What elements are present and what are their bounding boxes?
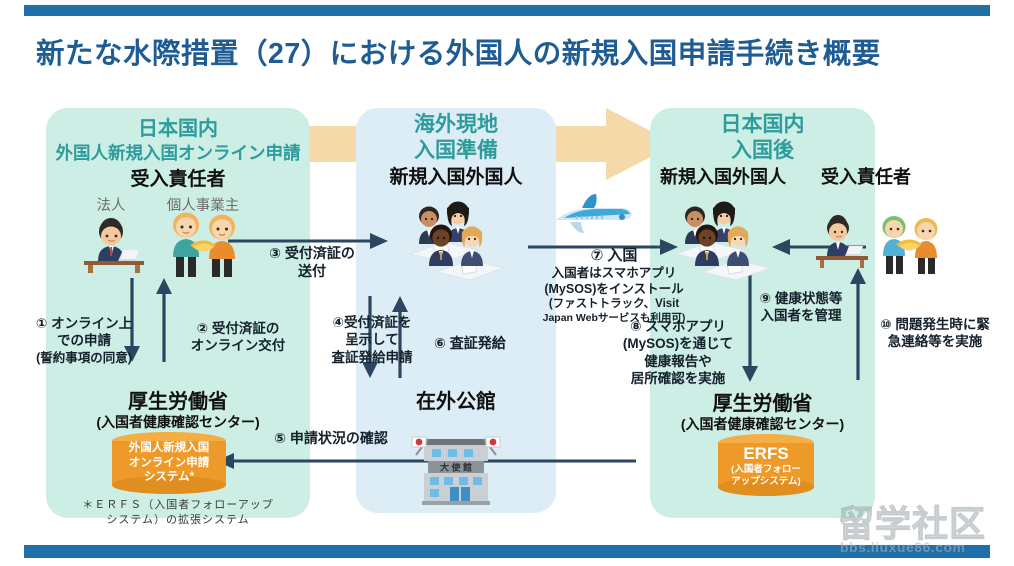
step-4-line-2: 呈示して xyxy=(312,331,432,348)
step-1-line-2: での申請 xyxy=(14,332,154,349)
step-8-label: ⑧ スマホアプリ (MySOS)を通じて 健康報告や 居所確認を実施 xyxy=(608,318,748,387)
step-10-line-2: 急連絡等を実施 xyxy=(860,333,1010,350)
right-panel-role-title-foreigners: 新規入国外国人 xyxy=(648,166,798,189)
svg-text:大 使 館: 大 使 館 xyxy=(440,462,472,473)
step-3-line-1: ③ 受付済証の xyxy=(238,245,386,263)
step-8-line-3: 健康報告や xyxy=(608,353,748,370)
step-2-line-2: オンライン交付 xyxy=(168,337,308,354)
page-title: 新たな水際措置（27）における外国人の新規入国申請手続き概要 xyxy=(36,31,976,72)
mid-panel-heading-line2: 入国準備 xyxy=(356,138,556,164)
erfs-box-line-3: アップシステム) xyxy=(731,476,800,488)
step-8-line-1: ⑧ スマホアプリ xyxy=(608,318,748,335)
left-panel-footnote: ＊ＥＲＦＳ（入国者フォローアップ システム）の拡張システム xyxy=(46,498,310,528)
left-panel-heading-line1: 日本国内 xyxy=(46,117,310,141)
step-4-line-3: 査証発給申請 xyxy=(312,349,432,366)
right-panel-heading-line1: 日本国内 xyxy=(650,112,875,138)
step-8-line-4: 居所確認を実施 xyxy=(608,370,748,387)
step-1-line-3: (誓約事項の同意) xyxy=(14,350,154,366)
system-box-line-1: 外国人新規入国 xyxy=(129,441,210,455)
database-cylinder-online-application-system: 外国人新規入国 オンライン申請 システム* xyxy=(112,432,226,494)
system-box-line-3: システム* xyxy=(144,470,194,484)
step-1-label: ① オンライン上 での申請 (誓約事項の同意) xyxy=(14,315,154,366)
couple-icon xyxy=(160,205,248,277)
footnote-line-1: ＊ＥＲＦＳ（入国者フォローアップ xyxy=(46,498,310,513)
step-3-line-2: 送付 xyxy=(238,263,386,281)
slide-canvas: 新たな水際措置（27）における外国人の新規入国申請手続き概要 日本国内 外国人新… xyxy=(0,0,1014,566)
step-5-label: ⑤ 申請状況の確認 xyxy=(236,430,426,448)
airplane-icon xyxy=(548,190,636,244)
step-7-line-4: (ファストトラック、Visit xyxy=(524,297,704,312)
person-at-desk-icon xyxy=(78,215,156,273)
mid-panel-org-name: 在外公館 xyxy=(356,390,556,415)
step-9-label: ⑨ 健康状態等 入国者を管理 xyxy=(734,290,868,325)
mid-panel-role-title: 新規入国外国人 xyxy=(348,166,564,190)
couple-icon-sponsor xyxy=(872,208,948,274)
step-10-label: ⑩ 問題発生時に緊 急連絡等を実施 xyxy=(860,316,1010,351)
step-4-line-1: ④受付済証を xyxy=(312,314,432,331)
erfs-box-line-1: ERFS xyxy=(743,443,788,464)
footnote-line-2: システム）の拡張システム xyxy=(46,513,310,528)
step-8-line-2: (MySOS)を通じて xyxy=(608,335,748,352)
person-at-desk-icon-sponsor xyxy=(812,212,876,268)
slide-top-bar xyxy=(24,5,990,16)
right-panel-role-title-sponsor: 受入責任者 xyxy=(806,166,926,189)
left-panel-org-name: 厚生労働省 xyxy=(46,390,310,415)
step-3-label: ③ 受付済証の 送付 xyxy=(238,245,386,281)
step-9-line-1: ⑨ 健康状態等 xyxy=(734,290,868,307)
left-panel-role-sub-corporate: 法人 xyxy=(76,194,146,215)
watermark-url: bbs.liuxue86.com xyxy=(840,539,965,555)
step-2-line-1: ② 受付済証の xyxy=(168,320,308,337)
left-panel-org-sub: (入国者健康確認センター) xyxy=(40,414,316,432)
mid-panel-heading-line1: 海外現地 xyxy=(356,112,556,138)
step-9-line-2: 入国者を管理 xyxy=(734,307,868,324)
watermark: 留学社区 bbs.liuxue86.com xyxy=(838,495,1014,561)
step-1-line-1: ① オンライン上 xyxy=(14,315,154,332)
erfs-box-line-2: (入国者フォロー xyxy=(731,464,801,476)
system-box-line-2: オンライン申請 xyxy=(129,456,210,470)
right-panel-org-sub: (入国者健康確認センター) xyxy=(640,416,885,434)
database-cylinder-erfs: ERFS (入国者フォロー アップシステム) xyxy=(718,434,814,496)
step-10-line-1: ⑩ 問題発生時に緊 xyxy=(860,316,1010,333)
step-6-label: ⑥ 査証発給 xyxy=(434,335,564,353)
left-panel-role-title: 受入責任者 xyxy=(46,168,310,192)
right-panel-org-name: 厚生労働省 xyxy=(650,392,875,417)
foreigners-group-icon xyxy=(392,192,522,284)
foreigners-group-icon-after-entry xyxy=(658,192,788,284)
right-panel-heading-line2: 入国後 xyxy=(650,138,875,164)
step-4-label: ④受付済証を 呈示して 査証発給申請 xyxy=(312,314,432,366)
embassy-building-icon: 大 使 館 xyxy=(410,425,502,505)
step-2-label: ② 受付済証の オンライン交付 xyxy=(168,320,308,355)
left-panel-heading-line2: 外国人新規入国オンライン申請 xyxy=(40,143,316,164)
